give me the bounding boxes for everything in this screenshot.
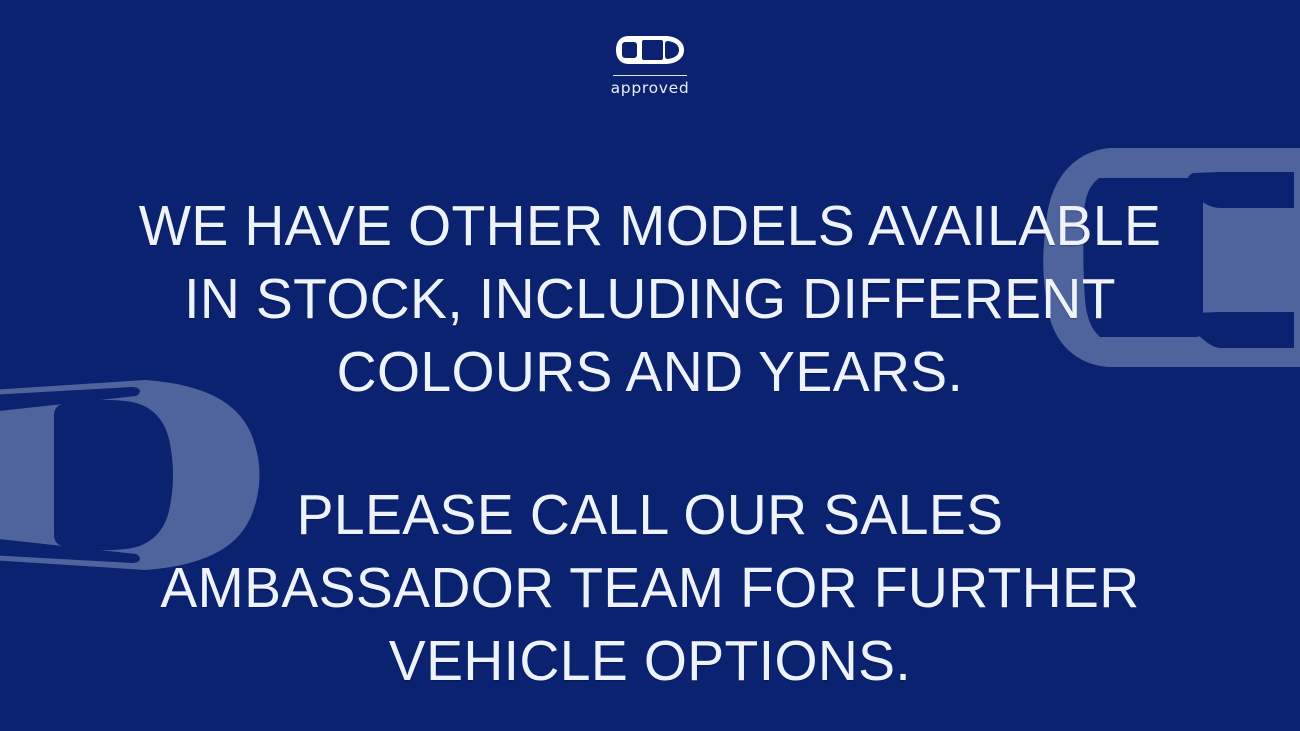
headline-secondary: PLEASE CALL OUR SALES AMBASSADOR TEAM FO… — [102, 479, 1198, 698]
approved-car-icon — [613, 32, 687, 68]
promo-slide: approved WE HAVE OTHER MODELS AVAILABLE … — [0, 0, 1300, 731]
logo-wordmark: approved — [611, 81, 690, 97]
brand-logo: approved — [0, 32, 1300, 97]
message-body: WE HAVE OTHER MODELS AVAILABLE IN STOCK,… — [0, 190, 1300, 731]
logo-divider — [613, 75, 687, 76]
headline-primary: WE HAVE OTHER MODELS AVAILABLE IN STOCK,… — [107, 190, 1193, 409]
